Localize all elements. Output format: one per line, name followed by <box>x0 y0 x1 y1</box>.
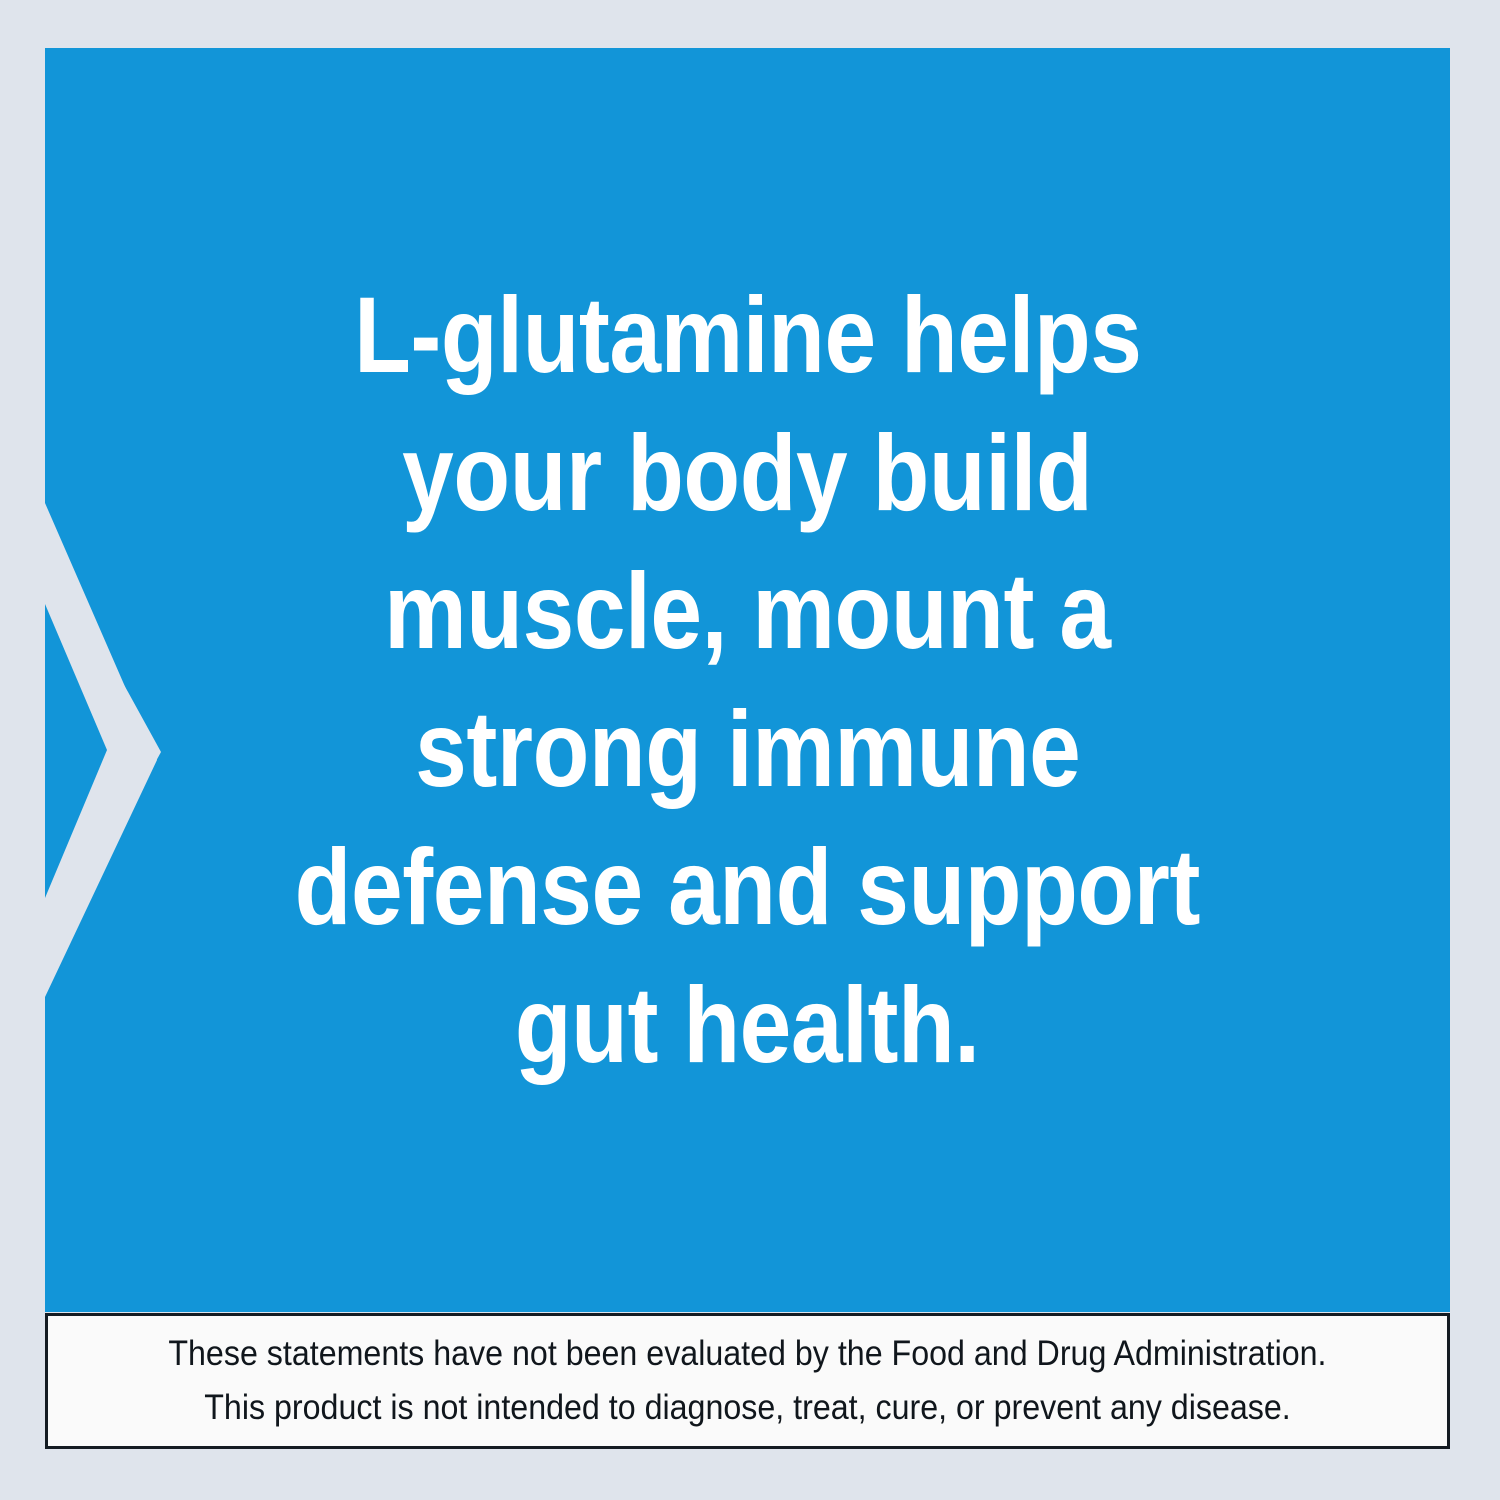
headline-line-3: muscle, mount a <box>384 542 1110 680</box>
headline-line-1: L-glutamine helps <box>354 266 1141 404</box>
headline-block: L-glutamine helps your body build muscle… <box>45 48 1450 1312</box>
headline-line-5: defense and support <box>295 818 1200 956</box>
headline-line-2: your body build <box>402 404 1092 542</box>
headline-line-6: gut health. <box>515 956 980 1094</box>
headline-line-4: strong immune <box>415 680 1080 818</box>
disclaimer-line-2: This product is not intended to diagnose… <box>204 1381 1291 1435</box>
disclaimer-line-1: These statements have not been evaluated… <box>168 1327 1326 1381</box>
fda-disclaimer-box: These statements have not been evaluated… <box>45 1313 1450 1449</box>
product-infographic-slide: L-glutamine helps your body build muscle… <box>0 0 1500 1500</box>
